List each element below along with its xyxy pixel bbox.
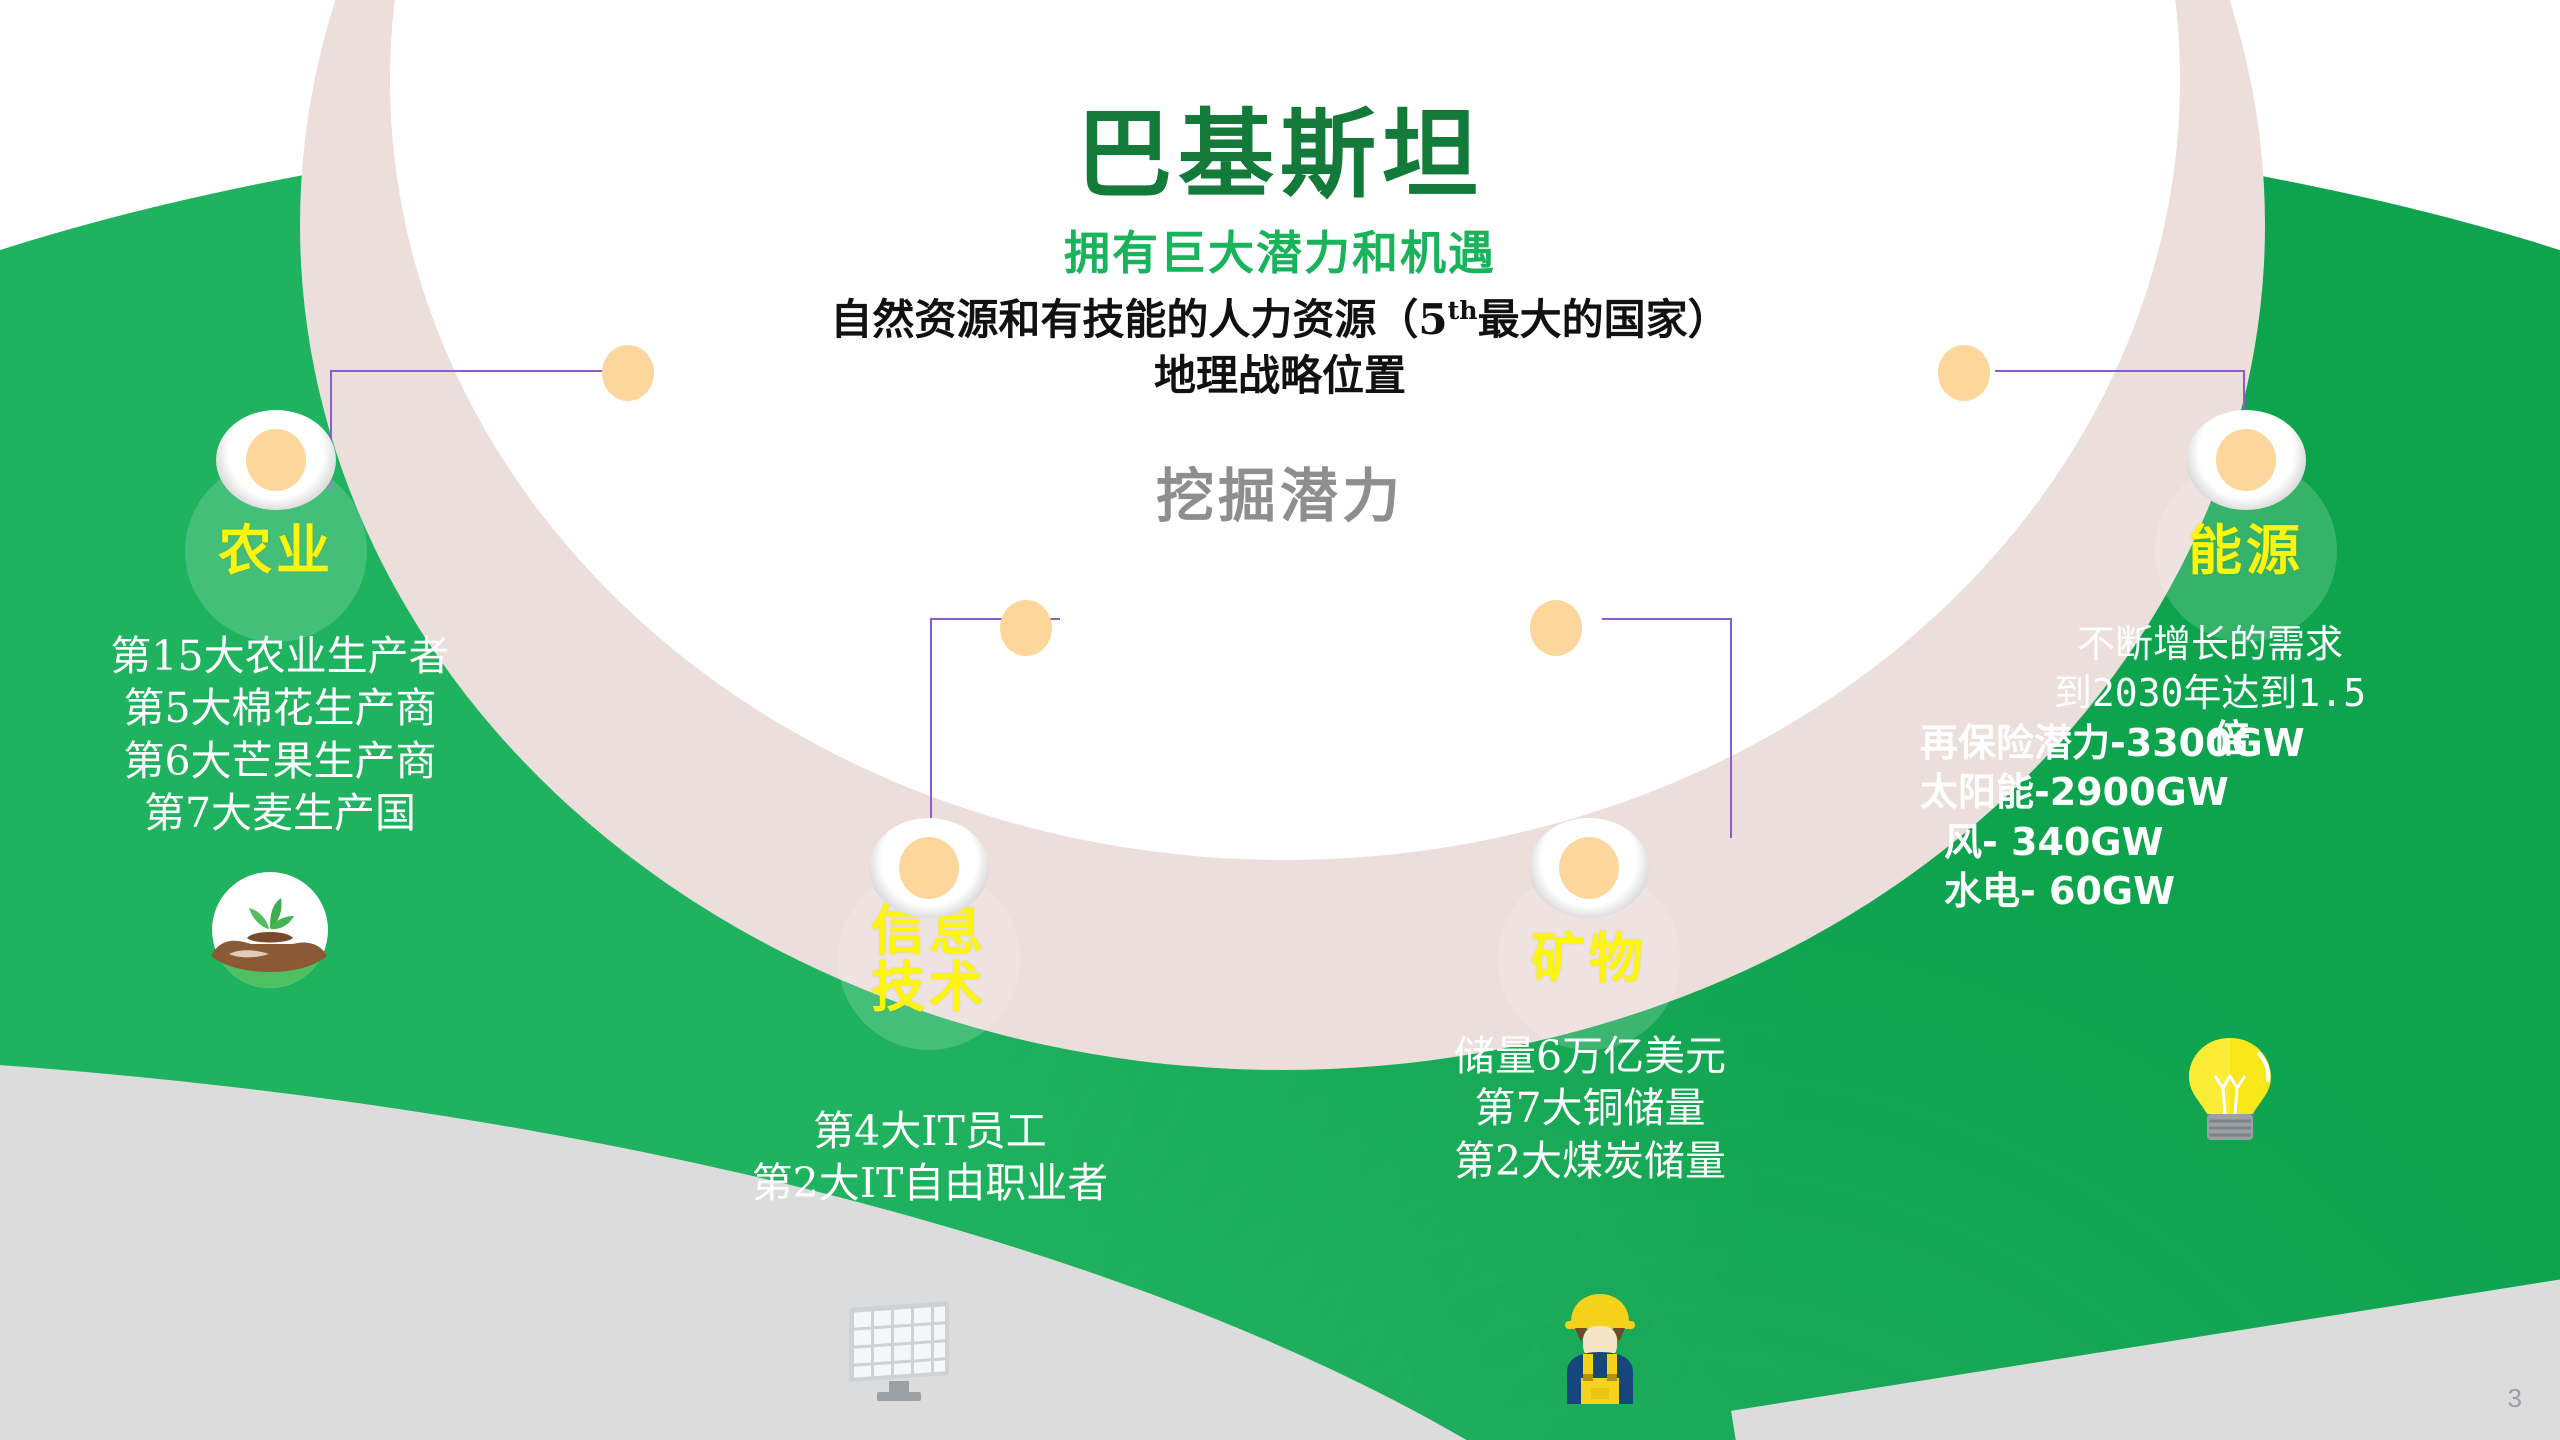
minerals-fact-3: 第2大煤炭储量 (1340, 1135, 1840, 1187)
energy-fact-5: 风- 340GW (1920, 818, 2540, 867)
agriculture-fact-3: 第6大芒果生产商 (20, 735, 540, 787)
cta-text: 挖掘潜力 (0, 449, 2560, 533)
it-node-core (899, 837, 959, 899)
energy-fact-2: 到2030年达到1.5 (1920, 669, 2540, 718)
connector-vertical (1730, 618, 1732, 838)
energy-facts: 不断增长的需求 到2030年达到1.5 再保险潜力-3300GW 倍 太阳能-2… (1920, 620, 2540, 916)
minerals-fact-1: 储量6万亿美元 (1340, 1030, 1840, 1082)
energy-fact-1: 不断增长的需求 (1920, 620, 2540, 669)
it-label: 信息 技术 (871, 902, 987, 1016)
lead-line-1: 自然资源和有技能的人力资源（5th最大的国家） (0, 292, 2560, 347)
connector-vertical (930, 618, 932, 838)
connector-dot-minerals (1530, 600, 1582, 656)
it-node-marker (869, 818, 989, 918)
it-label-line-2: 技术 (871, 956, 987, 1019)
connector-horizontal (1602, 618, 1732, 620)
energy-fact-3-row: 再保险潜力-3300GW 倍 (1920, 719, 2540, 768)
page-number: 3 (2508, 1383, 2522, 1414)
it-fact-2: 第2大IT自由职业者 (680, 1157, 1180, 1209)
solar-panel-icon (835, 1295, 965, 1410)
energy-fact-6: 水电- 60GW (1920, 867, 2540, 916)
agriculture-facts: 第15大农业生产者 第5大棉花生产商 第6大芒果生产商 第7大麦生产国 (20, 630, 540, 840)
lead-line-1-a: 自然资源和有技能的人力资源（5 (830, 295, 1447, 344)
minerals-label: 矿物 (1531, 930, 1647, 987)
page-subtitle: 拥有巨大潜力和机遇 (0, 228, 2560, 279)
lightbulb-icon (2175, 1030, 2285, 1155)
connector-minerals (1602, 618, 1732, 838)
lead-line-2: 地理战略位置 (0, 348, 2560, 403)
lead-line-1-b: 最大的国家） (1478, 295, 1730, 344)
lead-ordinal-suffix: th (1448, 295, 1478, 325)
header-block: 巴基斯坦 拥有巨大潜力和机遇 自然资源和有技能的人力资源（5th最大的国家） 地… (0, 0, 2560, 533)
agriculture-fact-1: 第15大农业生产者 (20, 630, 540, 682)
minerals-node-marker (1529, 818, 1649, 918)
minerals-facts: 储量6万亿美元 第7大铜储量 第2大煤炭储量 (1340, 1030, 1840, 1187)
it-facts: 第4大IT员工 第2大IT自由职业者 (680, 1105, 1180, 1210)
energy-fact-4: 太阳能-2900GW (1920, 768, 2540, 817)
it-fact-1: 第4大IT员工 (680, 1105, 1180, 1157)
minerals-node-core (1559, 837, 1619, 899)
page-title: 巴基斯坦 (0, 105, 2560, 206)
slide-canvas: 巴基斯坦 拥有巨大潜力和机遇 自然资源和有技能的人力资源（5th最大的国家） 地… (0, 0, 2560, 1440)
lead-paragraph: 自然资源和有技能的人力资源（5th最大的国家） 地理战略位置 (0, 292, 2560, 403)
agriculture-fact-2: 第5大棉花生产商 (20, 682, 540, 734)
energy-overlap-char: 倍 (2212, 715, 2250, 764)
worker-icon (1545, 1288, 1655, 1413)
agriculture-fact-4: 第7大麦生产国 (20, 787, 540, 839)
minerals-fact-2: 第7大铜储量 (1340, 1082, 1840, 1134)
hand-holding-sprout-icon (195, 862, 345, 1007)
connector-dot-it (1000, 600, 1052, 656)
